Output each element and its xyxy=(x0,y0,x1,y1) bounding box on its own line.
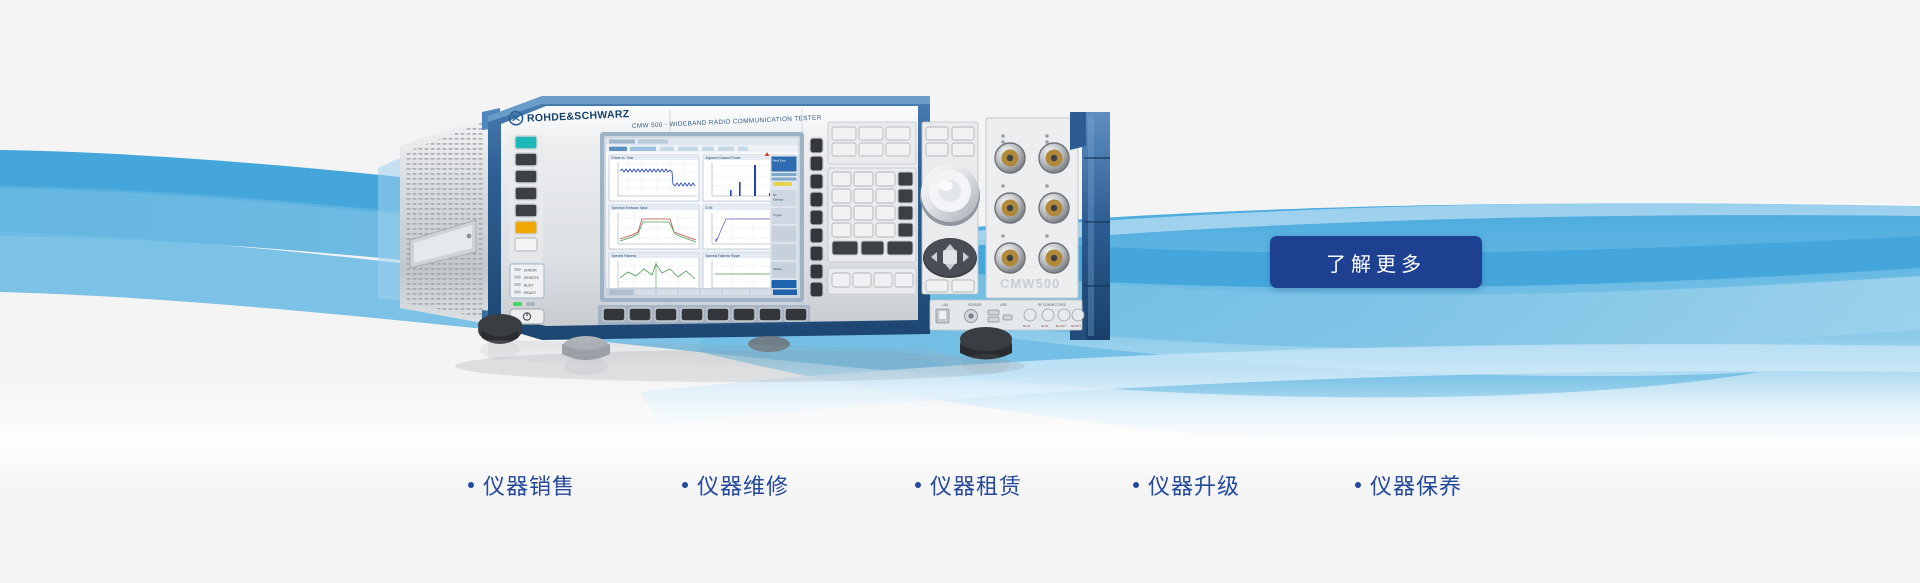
key-print xyxy=(515,204,537,217)
key-signal xyxy=(515,153,537,166)
bullet-icon xyxy=(1133,482,1139,488)
chart-spectrum-emission-mask: Spectrum Emission Mask xyxy=(609,205,699,249)
key-sys xyxy=(515,238,537,251)
service-label: 仪器维修 xyxy=(697,469,789,501)
svg-text:R2 IN: R2 IN xyxy=(1041,324,1048,328)
learn-more-label: 了解更多 xyxy=(1326,248,1426,277)
device-model-badge: CMW500 xyxy=(1000,276,1060,291)
bullet-icon xyxy=(915,482,921,488)
svg-text:ERROR: ERROR xyxy=(524,268,537,272)
svg-text:SENSOR: SENSOR xyxy=(968,303,982,307)
svg-text:R2 OUT: R2 OUT xyxy=(1071,324,1081,328)
service-link-2[interactable]: 仪器租赁 xyxy=(915,469,1022,501)
service-label: 仪器升级 xyxy=(1148,469,1240,501)
service-link-3[interactable]: 仪器升级 xyxy=(1133,469,1240,501)
service-label: 仪器保养 xyxy=(1370,469,1462,501)
learn-more-button[interactable]: 了解更多 xyxy=(1270,236,1482,288)
svg-text:Trigger: Trigger xyxy=(773,213,782,217)
screen-side-menu: Multi Eval RF Settings Trigger Marker xyxy=(770,155,798,296)
svg-text:Settings: Settings xyxy=(773,198,784,202)
screen-side-softkeys xyxy=(810,138,823,297)
rf-connector-bay: CMW500 xyxy=(986,118,1078,298)
svg-text:Marker: Marker xyxy=(773,267,782,271)
service-links: 仪器销售 仪器维修 仪器租赁 仪器升级 仪器保养 xyxy=(0,462,1920,508)
svg-text:RF CONNECTORS: RF CONNECTORS xyxy=(1038,303,1066,307)
cmw500-instrument: ROHDE&SCHWARZ CMW 500 - WIDEBAND RADIO C… xyxy=(370,72,1110,402)
svg-text:Adjacent Channel Power: Adjacent Channel Power xyxy=(706,156,742,160)
svg-text:Power vs. Time: Power vs. Time xyxy=(612,156,634,160)
svg-text:USB: USB xyxy=(1000,303,1007,307)
svg-text:READY: READY xyxy=(524,291,537,295)
service-label: 仪器租赁 xyxy=(930,469,1022,501)
service-link-1[interactable]: 仪器维修 xyxy=(682,469,789,501)
left-key-column: ERROR REMOTE BUSY READY xyxy=(509,134,544,324)
svg-text:Spectral Flatness: Spectral Flatness xyxy=(612,254,637,258)
svg-text:BUSY: BUSY xyxy=(524,283,534,287)
key-help xyxy=(515,221,537,234)
rotary-knob-area xyxy=(920,122,980,294)
svg-text:LAN: LAN xyxy=(942,303,949,307)
device-left-flank xyxy=(378,108,500,330)
bullet-icon xyxy=(682,482,688,488)
bottom-io-panel: LAN SENSOR USB RF CONNECTORS R1 IN R2 IN… xyxy=(930,300,1084,330)
chart-power-vs-time: Power vs. Time xyxy=(609,155,699,201)
softkey-row xyxy=(598,305,810,325)
svg-text:R1 OUT: R1 OUT xyxy=(1056,324,1066,328)
svg-text:Spectrum Emission Mask: Spectrum Emission Mask xyxy=(612,206,648,210)
svg-text:EVM: EVM xyxy=(706,206,713,210)
svg-text:Multi Eval: Multi Eval xyxy=(773,159,786,163)
bullet-icon xyxy=(1355,482,1361,488)
bullet-icon xyxy=(468,482,474,488)
key-meas xyxy=(515,187,537,200)
key-saverecall xyxy=(515,170,537,183)
svg-text:Spectral Flatness Ripple: Spectral Flatness Ripple xyxy=(706,254,741,258)
instrument-display: Power vs. Time Adjacent Channel Power xyxy=(600,132,804,302)
status-led-group: ERROR REMOTE BUSY READY xyxy=(510,264,544,298)
svg-text:RF: RF xyxy=(773,193,777,197)
service-link-4[interactable]: 仪器保养 xyxy=(1355,469,1462,501)
chart-spectral-flatness: Spectral Flatness xyxy=(609,253,699,293)
svg-text:R1 IN: R1 IN xyxy=(1023,324,1030,328)
service-link-0[interactable]: 仪器销售 xyxy=(468,469,575,501)
service-label: 仪器销售 xyxy=(483,469,575,501)
keypad-block xyxy=(828,122,916,294)
key-reset xyxy=(515,136,537,149)
svg-text:REMOTE: REMOTE xyxy=(524,276,540,280)
